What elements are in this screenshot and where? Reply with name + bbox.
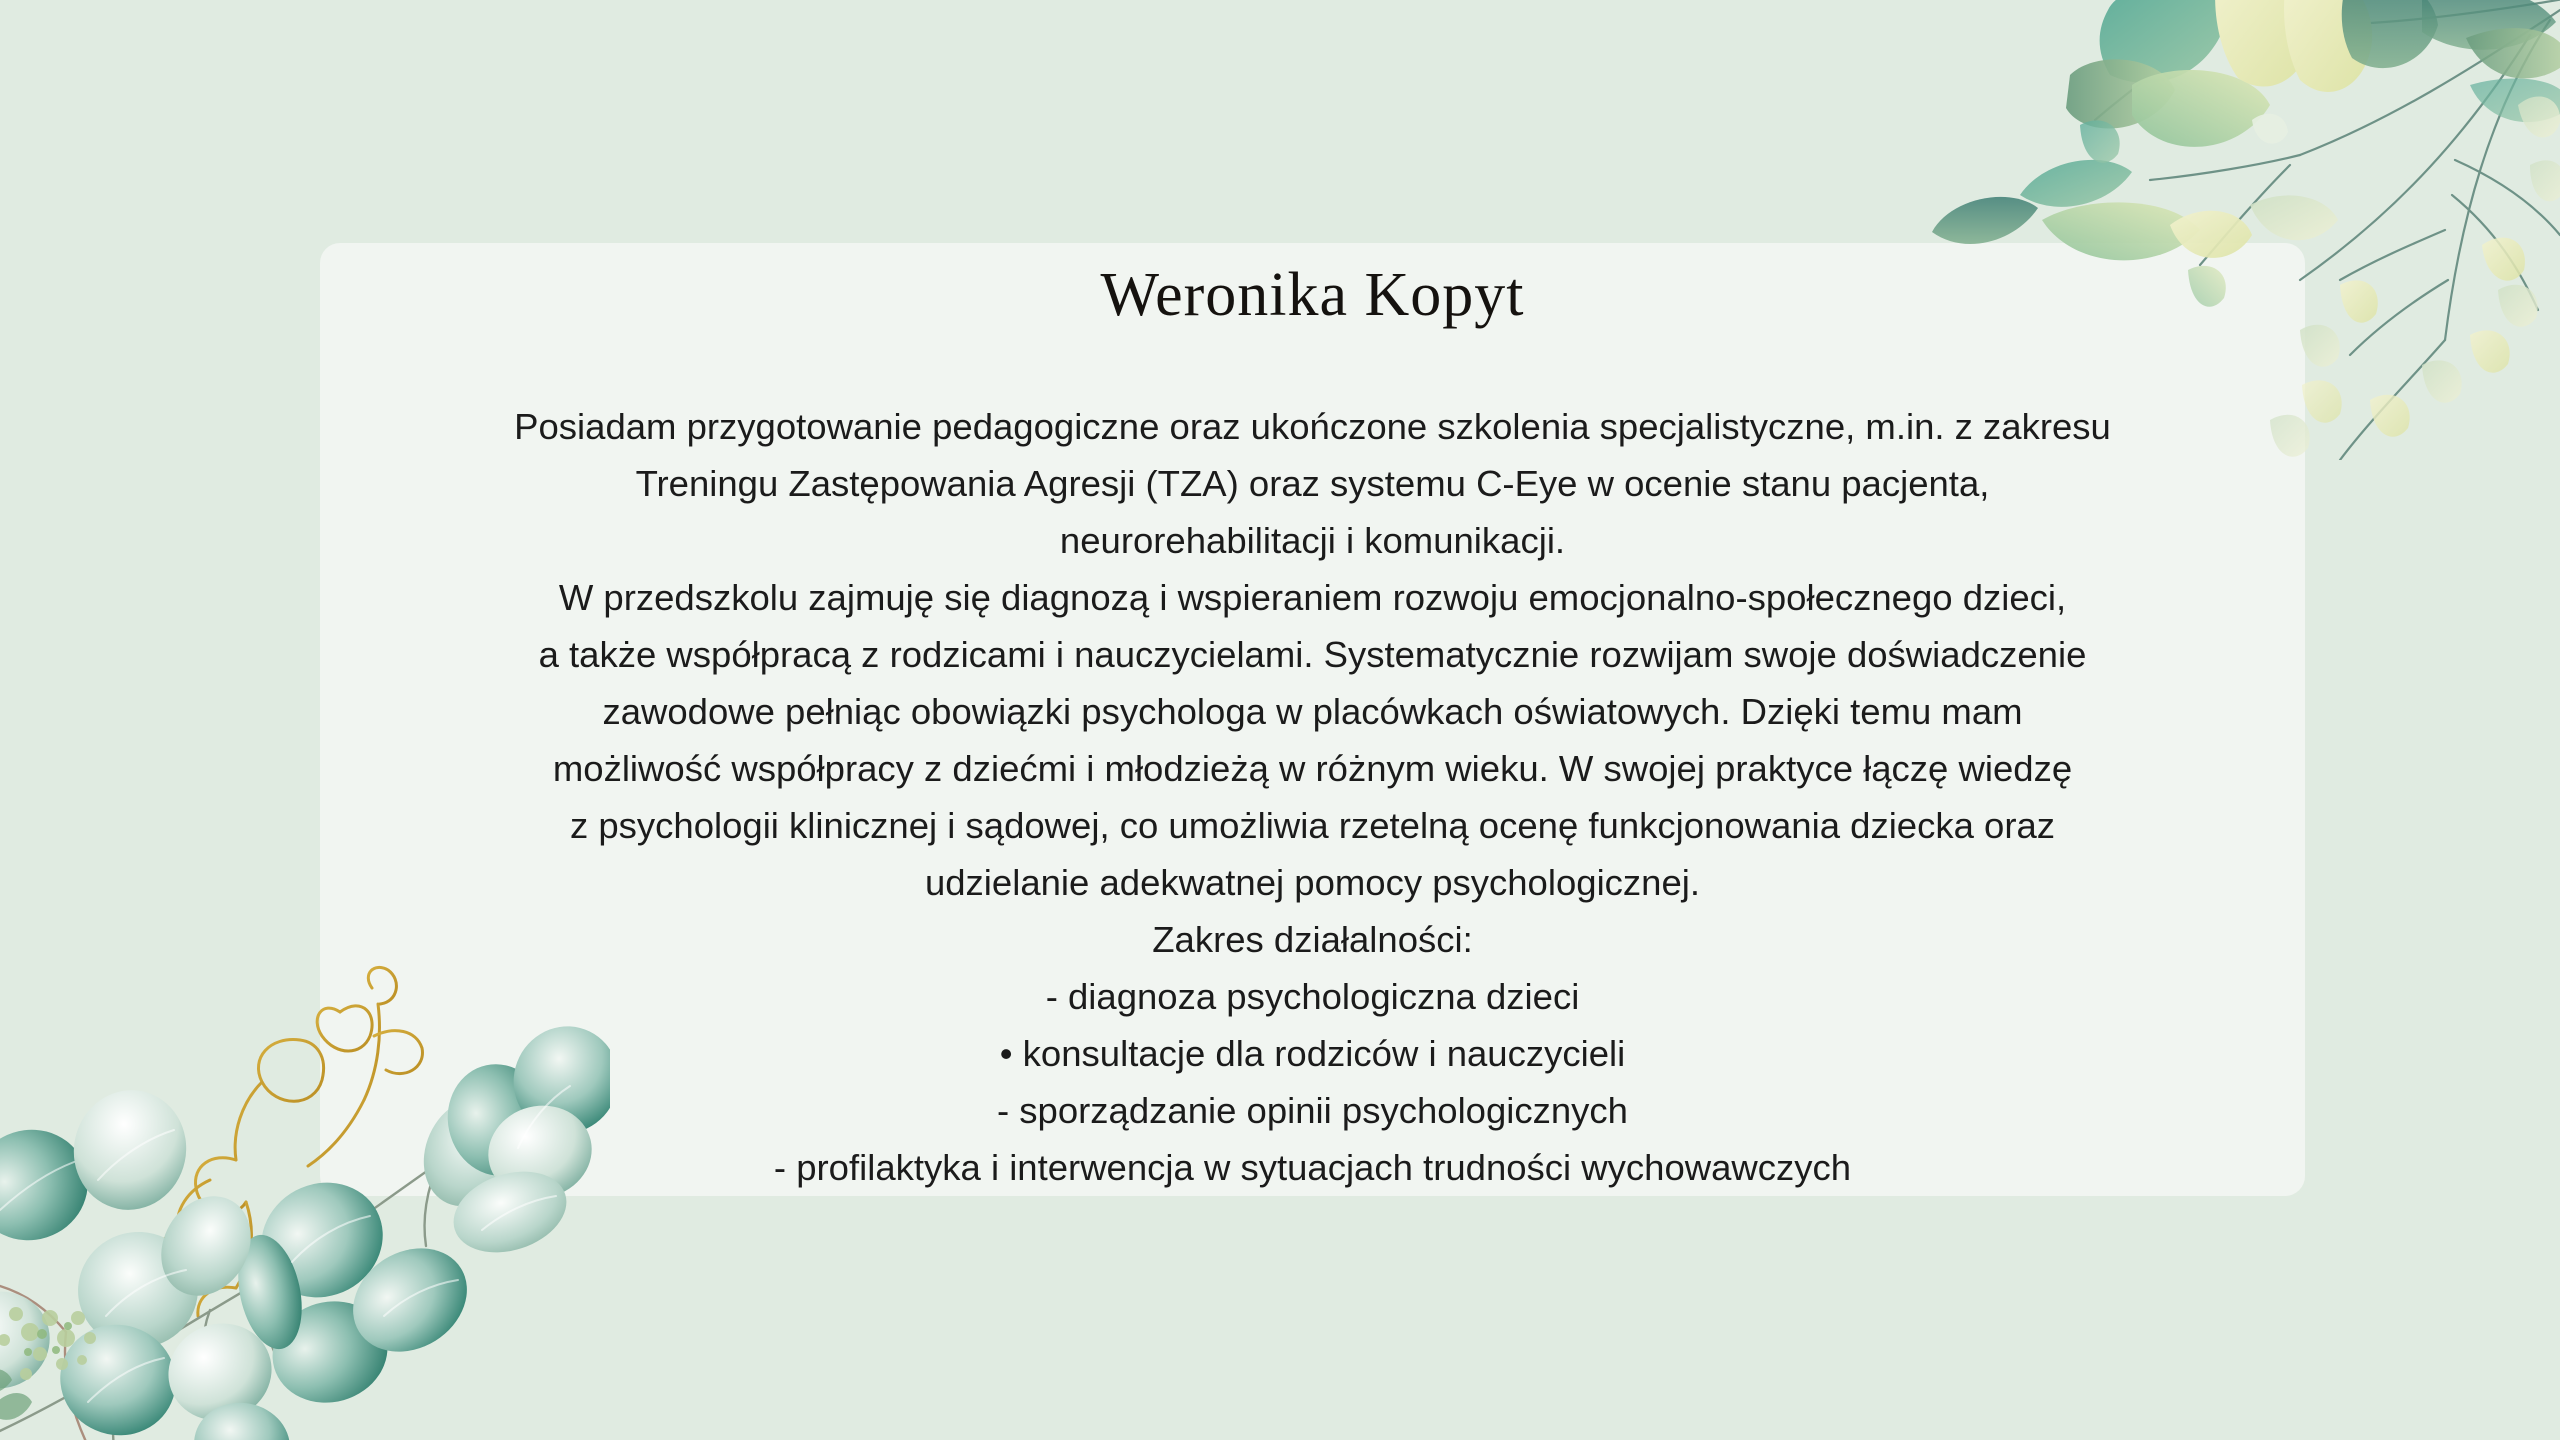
body-line: Posiadam przygotowanie pedagogiczne oraz… — [380, 398, 2245, 455]
body-line-bullet: - sporządzanie opinii psychologicznych — [380, 1082, 2245, 1139]
body-line-bullet: - diagnoza psychologiczna dzieci — [380, 968, 2245, 1025]
body-line-bullet: - profilaktyka i interwencja w sytuacjac… — [380, 1139, 2245, 1196]
content-card: Weronika Kopyt Posiadam przygotowanie pe… — [320, 243, 2305, 1196]
biography-text: Posiadam przygotowanie pedagogiczne oraz… — [380, 398, 2245, 1196]
body-line: Treningu Zastępowania Agresji (TZA) oraz… — [380, 455, 2245, 512]
body-line: a także współpracą z rodzicami i nauczyc… — [380, 626, 2245, 683]
slide-canvas: Weronika Kopyt Posiadam przygotowanie pe… — [0, 0, 2560, 1440]
body-line: W przedszkolu zajmuję się diagnozą i wsp… — [380, 569, 2245, 626]
body-line-heading: Zakres działalności: — [380, 911, 2245, 968]
body-line: neurorehabilitacji i komunikacji. — [380, 512, 2245, 569]
page-title: Weronika Kopyt — [320, 260, 2305, 331]
body-line-bullet: • konsultacje dla rodziców i nauczycieli — [380, 1025, 2245, 1082]
body-line: możliwość współpracy z dziećmi i młodzie… — [380, 740, 2245, 797]
body-line: udzielanie adekwatnej pomocy psychologic… — [380, 854, 2245, 911]
body-line: zawodowe pełniąc obowiązki psychologa w … — [380, 683, 2245, 740]
body-line: z psychologii klinicznej i sądowej, co u… — [380, 797, 2245, 854]
